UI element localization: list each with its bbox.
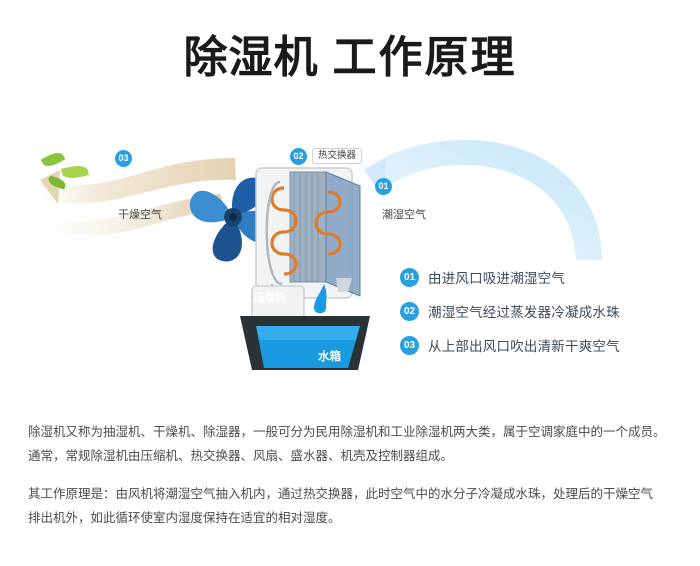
badge-01: 01 (375, 178, 392, 195)
body-paragraph-2: 其工作原理是：由风机将潮湿空气抽入机内，通过热交换器，此时空气中的水分子冷凝成水… (28, 482, 674, 530)
legend-badge-03: 03 (400, 336, 419, 355)
legend-list: 01 由进风口吸进潮湿空气 02 潮湿空气经过蒸发器冷凝成水珠 03 从上部出风… (400, 260, 690, 362)
legend-item: 01 由进风口吸进潮湿空气 (400, 260, 690, 294)
legend-item: 03 从上部出风口吹出清新干爽空气 (400, 328, 690, 362)
body-copy: 除湿机又称为抽湿机、干燥机、除湿器，一般可分为民用除湿机和工业除湿机两大类，属于… (28, 420, 674, 530)
label-humid-air: 潮湿空气 (382, 206, 426, 222)
label-heat-exchanger: 热交换器 (312, 148, 362, 164)
badge-02: 02 (290, 148, 307, 165)
body-paragraph-1: 除湿机又称为抽湿机、干燥机、除湿器，一般可分为民用除湿机和工业除湿机两大类，属于… (28, 420, 674, 468)
body-line-4: 排出机外，如此循环使室内湿度保持在适宜的相对湿度。 (28, 511, 341, 525)
body-line-1: 除湿机又称为抽湿机、干燥机、除湿器，一般可分为民用除湿机和工业除湿机两大类，属于… (28, 425, 666, 439)
legend-text-03: 从上部出风口吹出清新干爽空气 (428, 335, 620, 355)
title-part-b: 工作原理 (333, 33, 517, 82)
label-compressor: 压缩机 (254, 290, 286, 305)
legend-badge-02: 02 (400, 302, 419, 321)
label-dry-air: 干燥空气 (118, 206, 162, 222)
illustration: 03 干燥空气 02 热交换器 01 潮湿空气 压缩机 水箱 01 由进风口吸进… (0, 120, 700, 400)
body-line-3: 其工作原理是：由风机将潮湿空气抽入机内，通过热交换器，此时空气中的水分子冷凝成水… (28, 487, 653, 501)
legend-text-01: 由进风口吸进潮湿空气 (428, 267, 565, 287)
legend-badge-01: 01 (400, 268, 419, 287)
title-part-a: 除湿机 (184, 33, 319, 82)
legend-text-02: 潮湿空气经过蒸发器冷凝成水珠 (428, 301, 620, 321)
dehumidifier-infographic: 除湿机工作原理 (0, 0, 700, 566)
label-water-tank: 水箱 (318, 348, 341, 364)
dehumidifier-unit-icon (228, 158, 388, 388)
body-line-2: 通常，常规除湿机由压缩机、热交换器、风扇、盛水器、机壳及控制器组成。 (28, 449, 453, 463)
page-title: 除湿机工作原理 (0, 32, 700, 85)
badge-03: 03 (115, 150, 132, 167)
legend-item: 02 潮湿空气经过蒸发器冷凝成水珠 (400, 294, 690, 328)
